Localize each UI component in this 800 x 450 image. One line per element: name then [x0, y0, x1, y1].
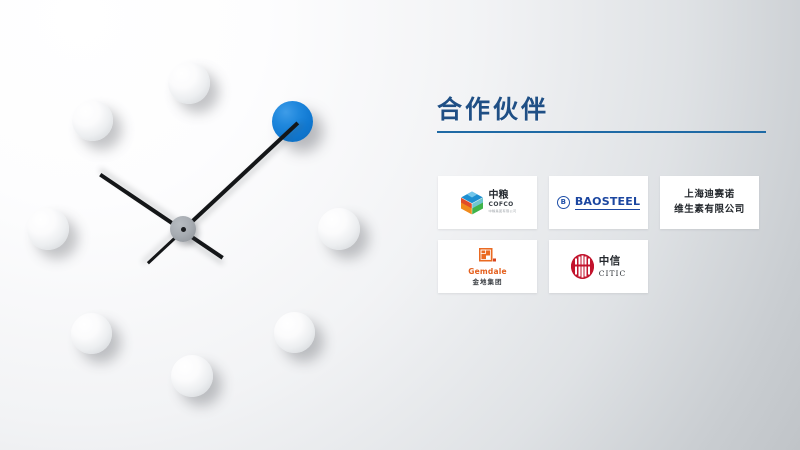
clock-marker-6 — [171, 355, 213, 397]
partner-card-cofco[interactable]: 中粮 COFCO 中粮集团有限公司 — [438, 176, 537, 229]
gemdale-en-label: Gemdale — [468, 268, 507, 276]
baosteel-mark-letter: B — [561, 199, 566, 206]
partner-card-gemdale[interactable]: Gemdale 金地集团 — [438, 240, 537, 293]
cofco-cn-label: 中粮 — [489, 191, 509, 201]
cofco-en-label: COFCO — [489, 202, 514, 208]
clock-minute-hand — [182, 121, 300, 231]
clock-marker-9 — [27, 208, 69, 250]
desano-line-2: 维生素有限公司 — [674, 203, 745, 218]
desano-line-1: 上海迪赛诺 — [674, 188, 745, 203]
wall-clock-image — [0, 0, 400, 450]
clock-marker-3 — [318, 208, 360, 250]
clock-marker-10 — [72, 100, 113, 141]
partner-card-citic[interactable]: 中信 CITIC — [549, 240, 648, 293]
slide-canvas: 合作伙伴 — [0, 0, 800, 450]
partner-card-baosteel[interactable]: B BAOSTEEL — [549, 176, 648, 229]
clock-marker-8 — [71, 313, 112, 354]
gemdale-square-icon — [479, 248, 496, 265]
citic-en-label: CITIC — [599, 270, 626, 278]
gemdale-cn-label: 金地集团 — [472, 279, 502, 286]
clock-marker-12 — [168, 62, 210, 104]
baosteel-wordmark: BAOSTEEL — [575, 195, 640, 210]
cofco-tagline: 中粮集团有限公司 — [489, 211, 517, 214]
page-title: 合作伙伴 — [437, 96, 769, 124]
citic-emblem-icon — [571, 254, 594, 279]
baosteel-emblem-icon: B — [557, 196, 570, 209]
partners-section: 合作伙伴 — [437, 96, 769, 133]
title-divider — [437, 131, 766, 133]
partner-card-desano[interactable]: 上海迪赛诺 维生素有限公司 — [660, 176, 759, 229]
clock-marker-4 — [274, 312, 315, 353]
partner-logo-grid: 中粮 COFCO 中粮集团有限公司 B BAOSTEEL 上海迪赛诺 维生素有限… — [438, 176, 768, 293]
clock-marker-1-accent — [272, 101, 313, 142]
clock-center-pin — [181, 227, 186, 232]
cofco-cube-icon — [459, 190, 485, 216]
citic-cn-label: 中信 — [599, 256, 621, 267]
